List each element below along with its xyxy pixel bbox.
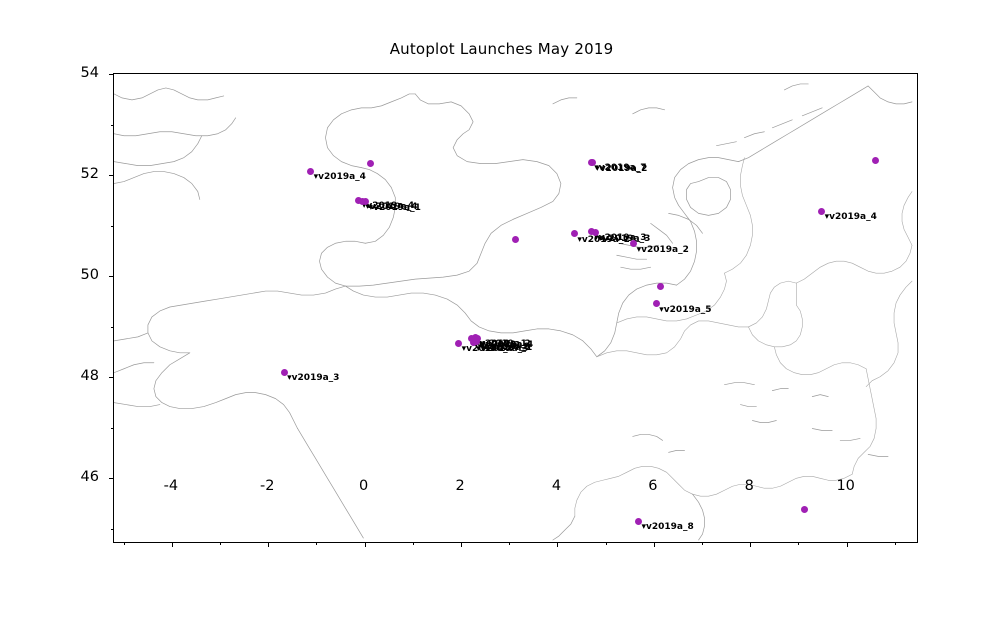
y-tick-major [109,276,114,277]
x-tick-minor [702,542,703,545]
y-tick-major [109,175,114,176]
x-tick-minor [124,542,125,545]
data-point-label: ▾v2019a_8 [641,523,693,532]
data-point-label: ▾v2019a_5 [659,306,711,315]
x-tick-label: -4 [164,478,178,494]
x-tick-minor [798,542,799,545]
data-point-label: ▾v2019a_1 [369,204,421,213]
y-tick-label: 52 [81,166,99,182]
y-tick-label: 54 [81,65,99,81]
x-tick-label: 4 [552,478,561,494]
data-point[interactable] [657,283,664,290]
y-tick-major [109,377,114,378]
y-tick-major [109,74,114,75]
x-tick-label: 6 [648,478,657,494]
data-point-label: ▾v2019a_3 [287,374,339,383]
data-point[interactable] [512,236,519,243]
data-point-label: ▾v2019a_4 [825,213,877,222]
y-tick-major [109,478,114,479]
y-tick-label: 50 [81,267,99,283]
data-point-label: ▾v2019a_3 [598,235,650,244]
data-point-label: ▾v2019a_2 [595,165,647,174]
basemap-layer [114,74,917,542]
y-tick-minor [111,529,114,530]
x-tick-major [750,542,751,547]
x-tick-major [365,542,366,547]
y-tick-label: 48 [81,368,99,384]
figure-canvas: Autoplot Launches May 2019 [0,0,1003,633]
x-tick-major [172,542,173,547]
x-tick-minor [895,542,896,545]
x-tick-label: -2 [260,478,274,494]
x-tick-label: 10 [836,478,854,494]
x-tick-label: 2 [455,478,464,494]
data-point-label: ▾v2019a_4 [314,173,366,182]
coastline-svg [114,74,917,542]
y-tick-minor [111,226,114,227]
data-point-label: ▾v2019a_3 [476,345,528,354]
x-tick-minor [606,542,607,545]
y-tick-minor [111,428,114,429]
plot-axes: ▾v2019a_4▾v2019a_4▾v2019a_4▾v2019a_1▾v20… [113,73,918,543]
x-tick-major [557,542,558,547]
x-tick-minor [413,542,414,545]
data-point[interactable] [801,506,808,513]
x-tick-major [268,542,269,547]
coastlines-group [114,86,868,538]
y-tick-label: 46 [81,469,99,485]
page-title: Autoplot Launches May 2019 [0,40,1003,58]
country-borders-group [553,84,912,540]
x-tick-label: 8 [745,478,754,494]
y-tick-minor [111,125,114,126]
data-point-label: ▾v2019a_2 [637,246,689,255]
x-tick-major [654,542,655,547]
x-tick-minor [509,542,510,545]
x-tick-major [847,542,848,547]
y-tick-minor [111,327,114,328]
x-tick-minor [220,542,221,545]
x-tick-major [461,542,462,547]
x-tick-label: 0 [359,478,368,494]
x-tick-minor [316,542,317,545]
